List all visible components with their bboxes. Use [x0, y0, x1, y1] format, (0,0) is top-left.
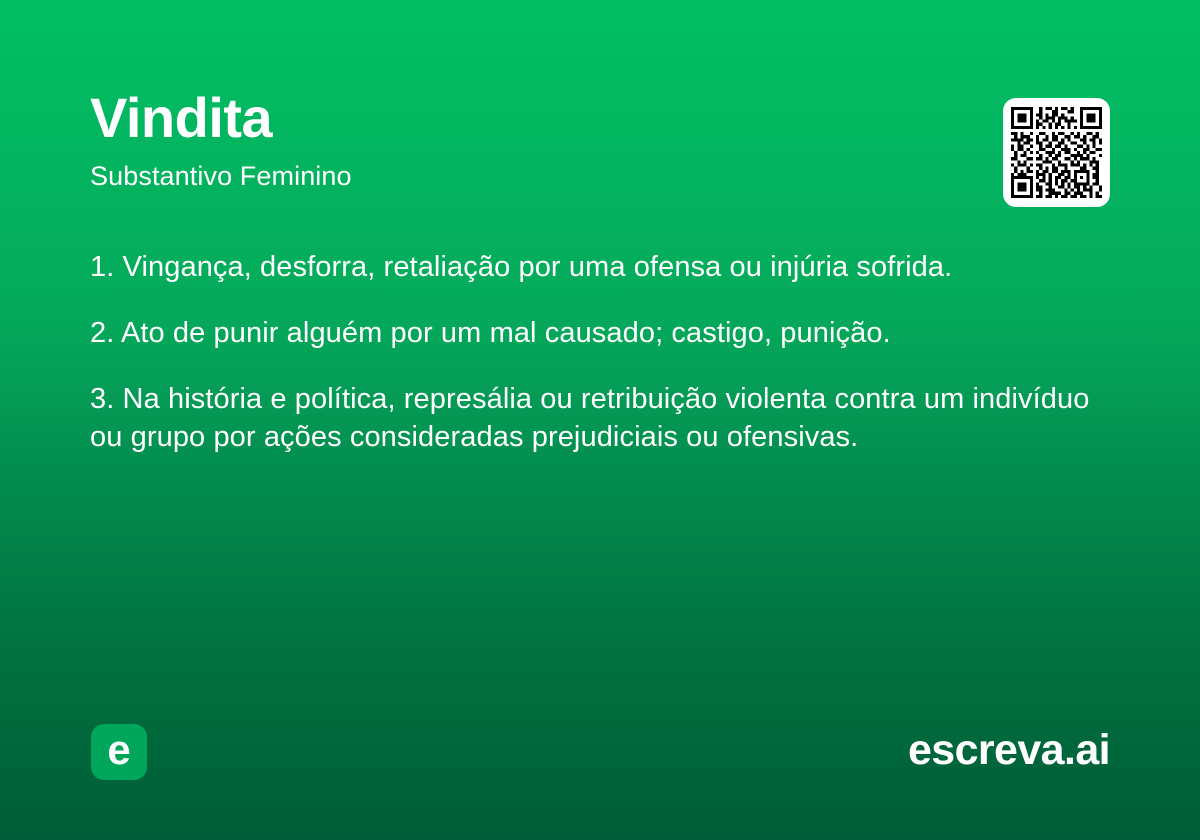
definition-item: 3. Na história e política, represália ou…: [90, 380, 1110, 456]
word-class-label: Substantivo Feminino: [90, 160, 970, 192]
word-title: Vindita: [90, 88, 970, 148]
qr-code-icon: [1011, 106, 1102, 199]
logo-letter: e: [107, 729, 130, 771]
definitions-list: 1. Vingança, desforra, retaliação por um…: [90, 248, 1110, 456]
dictionary-definition-card: Vindita Substantivo Feminino: [0, 0, 1200, 840]
definition-item: 2. Ato de punir alguém por um mal causad…: [90, 314, 1110, 352]
qr-code-panel[interactable]: [1003, 98, 1110, 207]
definition-item: 1. Vingança, desforra, retaliação por um…: [90, 248, 1110, 286]
brand-wordmark: escreva.ai: [908, 726, 1110, 775]
card-header: Vindita Substantivo Feminino: [90, 88, 970, 193]
escreva-logo-mark: e: [91, 724, 147, 780]
